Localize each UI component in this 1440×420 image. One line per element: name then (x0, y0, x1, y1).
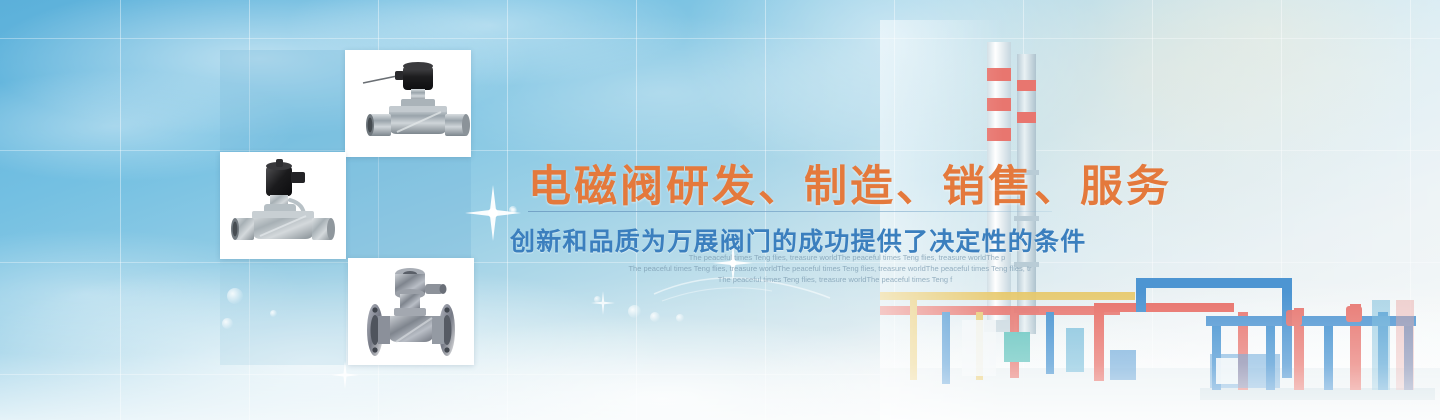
bokeh-dot-3 (628, 305, 641, 318)
industrial-plant-scene (880, 20, 1440, 420)
page-title: 电磁阀研发、制造、销售、服务 (528, 152, 1172, 214)
bokeh-dot-1 (509, 206, 517, 214)
pump-skid-right (1200, 300, 1435, 400)
hero-banner: 电磁阀研发、制造、销售、服务 创新和品质为万展阀门的成功提供了决定性的条件 Th… (0, 0, 1440, 420)
bokeh-dot-2 (511, 208, 517, 214)
decorative-blurb: The peaceful times Teng flies, treasure … (560, 252, 1100, 285)
bokeh-dot-6 (594, 296, 601, 303)
product-tile-solenoid-valve-threaded-upright[interactable] (220, 152, 346, 259)
bokeh-dot-8 (222, 318, 233, 329)
bokeh-dot-5 (676, 314, 684, 322)
panel-cell-middle-right (345, 152, 471, 259)
panel-cell-bottom-left (220, 258, 346, 365)
blurb-line-3: The peaceful times Teng flies, treasure … (560, 274, 1100, 285)
panel-cell-top-left (220, 50, 346, 157)
bokeh-dot-7 (227, 288, 243, 304)
blurb-line-2: The peaceful times Teng flies, treasure … (560, 263, 1100, 274)
product-tile-solenoid-valve-flanged[interactable] (348, 258, 474, 365)
bokeh-dot-4 (650, 312, 660, 322)
blurb-line-1: The peaceful times Teng flies, treasure … (560, 252, 1100, 263)
bokeh-dot-9 (270, 310, 277, 317)
sparkle-star-4 (590, 290, 616, 316)
pipe-rack-left (880, 292, 1135, 384)
pipe-bridge-center (1094, 278, 1292, 381)
title-divider (528, 211, 1052, 212)
product-tile-solenoid-valve-threaded-horizontal[interactable] (345, 50, 471, 157)
plant-fade-overlay (880, 20, 1440, 420)
